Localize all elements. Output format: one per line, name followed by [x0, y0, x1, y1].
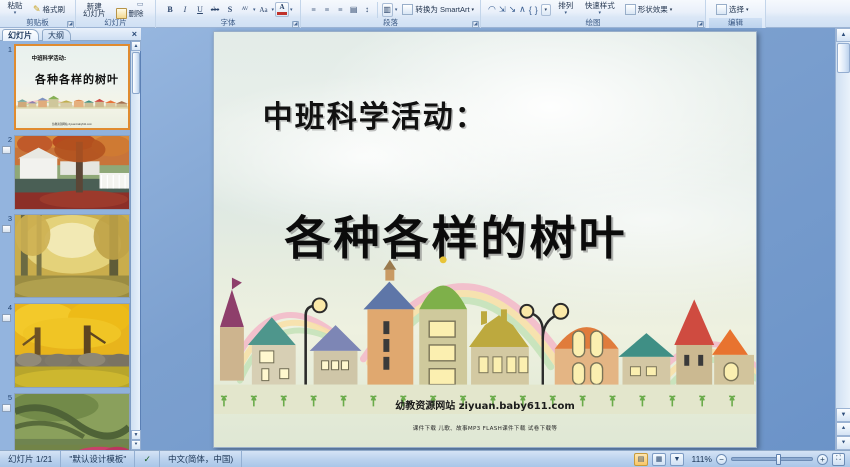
powerpoint-window: 粘贴 ▾ ✎ 格式刷 剪贴板 ◪ 新建 幻灯片 ▭ — [0, 0, 850, 467]
chevron-down-icon: ▾ — [472, 7, 475, 13]
convert-to-smartart-button[interactable]: 转换为 SmartArt ▾ — [399, 2, 477, 17]
bold-icon[interactable]: B — [163, 3, 177, 17]
slide-footer-main: 幼教资源网站 ziyuan.baby611.com — [214, 397, 756, 412]
tab-slides[interactable]: 幻灯片 — [2, 29, 39, 41]
format-painter-button[interactable]: ✎ 格式刷 — [30, 2, 68, 17]
align-left-icon[interactable]: ≡ — [308, 3, 319, 17]
font-color-chevron-icon[interactable]: ▾ — [290, 7, 293, 13]
ribbon-group-slides-title: 幻灯片 — [79, 18, 152, 28]
thumbnail-layout-icon — [2, 314, 11, 322]
align-right-icon[interactable]: ≡ — [335, 3, 346, 17]
thumbnail-image[interactable]: 中班科学活动: 各种各样的树叶 — [14, 44, 130, 130]
ribbon-filler — [766, 0, 850, 27]
shape-effects-icon — [625, 4, 636, 15]
slide-counter[interactable]: 幻灯片 1/21 — [0, 451, 61, 467]
format-painter-icon: ✎ — [33, 4, 41, 15]
thumbnail-item-3[interactable]: 3 — [0, 213, 135, 302]
close-panel-icon[interactable]: × — [132, 29, 137, 40]
strikethrough-icon[interactable]: abc — [208, 3, 222, 17]
thumb4-photo — [15, 304, 129, 387]
design-template-name[interactable]: "默认设计模板" — [61, 451, 135, 467]
fit-slide-to-window-button[interactable]: ⛶ — [832, 453, 845, 466]
thumbnail-item-5[interactable]: 5 — [0, 392, 135, 450]
thumbnail-number: 3 — [3, 215, 12, 223]
thumbnail-image[interactable] — [14, 214, 130, 298]
spell-check-status[interactable]: ✓ — [135, 451, 160, 467]
columns-icon[interactable]: ▥ — [382, 3, 393, 17]
previous-slide-icon[interactable]: ⯅ — [836, 422, 850, 436]
thumbnail-item-4[interactable]: 4 — [0, 302, 135, 392]
chevron-down-icon: ▾ — [598, 9, 601, 17]
change-case-icon[interactable]: Aa — [257, 3, 271, 17]
zoom-slider-thumb[interactable] — [776, 454, 781, 465]
ribbon-group-drawing-title: 绘图 — [484, 18, 702, 28]
zoom-out-button[interactable]: − — [716, 454, 727, 465]
chevron-down-icon: ▾ — [564, 9, 567, 17]
spell-check-icon: ✓ — [143, 454, 151, 465]
paste-button[interactable]: 粘贴 ▾ — [3, 1, 27, 18]
ribbon-group-font: B I U abc S AV ▾ Aa ▾ A ▾ 字体 ◪ — [156, 0, 301, 28]
status-right-tools: ▤ ▦ ▼ 111% − + ⛶ — [634, 453, 850, 466]
thumbnail-number: 5 — [3, 394, 12, 402]
slideshow-button[interactable]: ▼ — [670, 453, 684, 466]
thumbnail-image[interactable] — [14, 393, 130, 450]
layout-icon[interactable]: ▭ — [137, 0, 144, 8]
shadow-icon[interactable]: S — [223, 3, 237, 17]
scroll-down-icon[interactable]: ▼ — [836, 408, 850, 422]
panel-scroll-down-icon[interactable]: ▼ — [131, 430, 141, 440]
ribbon-group-font-title: 字体 — [159, 18, 297, 28]
line-spacing-icon[interactable]: ↕ — [361, 3, 372, 17]
slide-footer-sub: 课件下载 儿歌、故事MP3 FLASH课件下载 试卷下载等 — [214, 424, 756, 432]
ribbon-group-paragraph: ≡ ≡ ≡ ▤ ↕ ▥ ▾ 转换为 SmartArt ▾ 段落 ◪ — [301, 0, 481, 28]
columns-chevron-icon[interactable]: ▾ — [395, 7, 398, 13]
font-color-icon[interactable]: A — [275, 2, 289, 17]
scroll-up-icon[interactable]: ▲ — [836, 28, 850, 42]
character-spacing-icon[interactable]: AV — [238, 3, 252, 17]
chevron-down-icon: ▾ — [670, 7, 673, 13]
shape-brace-right-icon[interactable]: } — [535, 5, 538, 15]
thumbnail-layout-icon — [2, 146, 11, 154]
select-icon — [716, 4, 727, 15]
justify-icon[interactable]: ▤ — [348, 3, 359, 17]
current-slide[interactable]: 中班科学活动： 各种各样的树叶 — [213, 31, 757, 448]
align-center-icon[interactable]: ≡ — [321, 3, 332, 17]
thumb5-photo — [15, 394, 129, 450]
slide-sorter-button[interactable]: ▦ — [652, 453, 666, 466]
next-slide-icon[interactable]: ⯆ — [836, 436, 850, 450]
thumbnail-layout-icon — [2, 404, 11, 412]
format-painter-label: 格式刷 — [43, 4, 66, 15]
ribbon-group-editing-title: 编辑 — [709, 18, 762, 28]
panel-scroll-double-down-icon[interactable]: ⯆ — [131, 440, 141, 450]
shape-effects-label: 形状效果 — [638, 4, 668, 15]
slides-outline-tabbar: 幻灯片 大纲 × — [0, 28, 141, 41]
ribbon-group-paragraph-title: 段落 — [304, 18, 477, 28]
chevron-down-icon: ▾ — [746, 7, 749, 13]
ribbon: 粘贴 ▾ ✎ 格式刷 剪贴板 ◪ 新建 幻灯片 ▭ — [0, 0, 850, 28]
ribbon-group-drawing: ◠ ⇲ ↘ ∧ { } ▾ 排列 ▾ 快速样式 ▾ 形状效果 ▾ — [481, 0, 706, 28]
shape-connector-icon[interactable]: ⇲ — [499, 5, 506, 14]
main-scrollbar[interactable]: ▲ ▼ ⯅ ⯆ — [835, 28, 850, 450]
smartart-icon — [402, 4, 413, 15]
thumb1-footer: 幼教资源网站 ziyuan.baby611.com — [16, 122, 128, 126]
change-case-chevron-icon[interactable]: ▾ — [272, 7, 275, 13]
thumbnail-number: 1 — [3, 46, 12, 54]
thumb2-photo — [15, 136, 129, 209]
thumbnail-number: 2 — [3, 136, 12, 144]
new-slide-button[interactable]: 新建 幻灯片 — [79, 2, 110, 18]
quick-styles-button[interactable]: 快速样式 ▾ — [581, 1, 619, 18]
thumbnail-image[interactable] — [14, 303, 130, 388]
thumbnail-item-1[interactable]: 1 中班科学活动: 各种各样的树叶 — [0, 41, 135, 134]
thumb1-title2: 各种各样的树叶 — [35, 71, 119, 87]
zoom-percent: 111% — [688, 454, 712, 464]
character-spacing-chevron-icon[interactable]: ▾ — [253, 7, 256, 13]
select-button[interactable]: 选择 ▾ — [713, 2, 752, 17]
thumbnail-item-2[interactable]: 2 — [0, 134, 135, 213]
tab-outline[interactable]: 大纲 — [42, 29, 71, 41]
thumb1-title1: 中班科学活动: — [32, 54, 67, 62]
shape-line-icon[interactable]: ↘ — [509, 4, 517, 15]
panel-scroll-thumb[interactable] — [132, 52, 140, 94]
underline-icon[interactable]: U — [193, 3, 207, 17]
paragraph-dialog-launcher[interactable]: ◪ — [472, 21, 479, 28]
shape-effects-button[interactable]: 形状效果 ▾ — [622, 2, 676, 17]
shape-cloud-icon[interactable]: ◠ — [488, 4, 496, 15]
ribbon-group-editing: 选择 ▾ 编辑 — [706, 0, 766, 28]
thumbnail-number: 4 — [3, 304, 12, 312]
thumbnail-list[interactable]: 1 中班科学活动: 各种各样的树叶 — [0, 41, 135, 450]
new-slide-label-line2: 幻灯片 — [83, 10, 106, 17]
zoom-in-button[interactable]: + — [817, 454, 828, 465]
arrange-button[interactable]: 排列 ▾ — [554, 1, 578, 18]
slide-canvas[interactable]: 中班科学活动： 各种各样的树叶 — [214, 32, 756, 447]
slides-panel: 幻灯片 大纲 × 1 中班科学活动: 各种各样的树叶 — [0, 28, 141, 450]
clipboard-dialog-launcher[interactable]: ◪ — [67, 21, 74, 28]
shape-brace-left-icon[interactable]: { — [529, 5, 532, 15]
shapes-gallery-more-icon[interactable]: ▾ — [541, 4, 551, 16]
panel-scroll-up-icon[interactable]: ▲ — [131, 41, 141, 51]
panel-scrollbar[interactable]: ▲ ▼ ⯆ — [130, 41, 140, 450]
chevron-down-icon: ▾ — [14, 9, 17, 17]
drawing-dialog-launcher[interactable]: ◪ — [697, 21, 704, 28]
slide-title-line1[interactable]: 中班科学活动： — [263, 92, 487, 136]
scroll-thumb[interactable] — [837, 43, 850, 73]
select-label: 选择 — [729, 4, 744, 15]
thumb3-photo — [15, 215, 129, 297]
thumbnail-image[interactable] — [14, 135, 130, 210]
ribbon-group-clipboard: 粘贴 ▾ ✎ 格式刷 剪贴板 ◪ — [0, 0, 76, 28]
town-illustration — [214, 240, 756, 414]
status-bar: 幻灯片 1/21 "默认设计模板" ✓ 中文(简体，中国) ▤ ▦ ▼ 111%… — [0, 450, 850, 467]
ribbon-group-slides: 新建 幻灯片 ▭ 删除 幻灯片 — [76, 0, 156, 28]
slide-workspace: 中班科学活动： 各种各样的树叶 — [141, 28, 850, 450]
font-dialog-launcher[interactable]: ◪ — [292, 21, 299, 28]
language-indicator[interactable]: 中文(简体，中国) — [160, 451, 242, 467]
normal-view-button[interactable]: ▤ — [634, 453, 648, 466]
ribbon-group-clipboard-title: 剪贴板 — [3, 18, 72, 28]
shape-angle-icon[interactable]: ∧ — [519, 4, 526, 15]
zoom-slider[interactable] — [731, 457, 813, 461]
italic-icon[interactable]: I — [178, 3, 192, 17]
convert-to-smartart-label: 转换为 SmartArt — [415, 4, 469, 15]
thumbnail-layout-icon — [2, 225, 11, 233]
